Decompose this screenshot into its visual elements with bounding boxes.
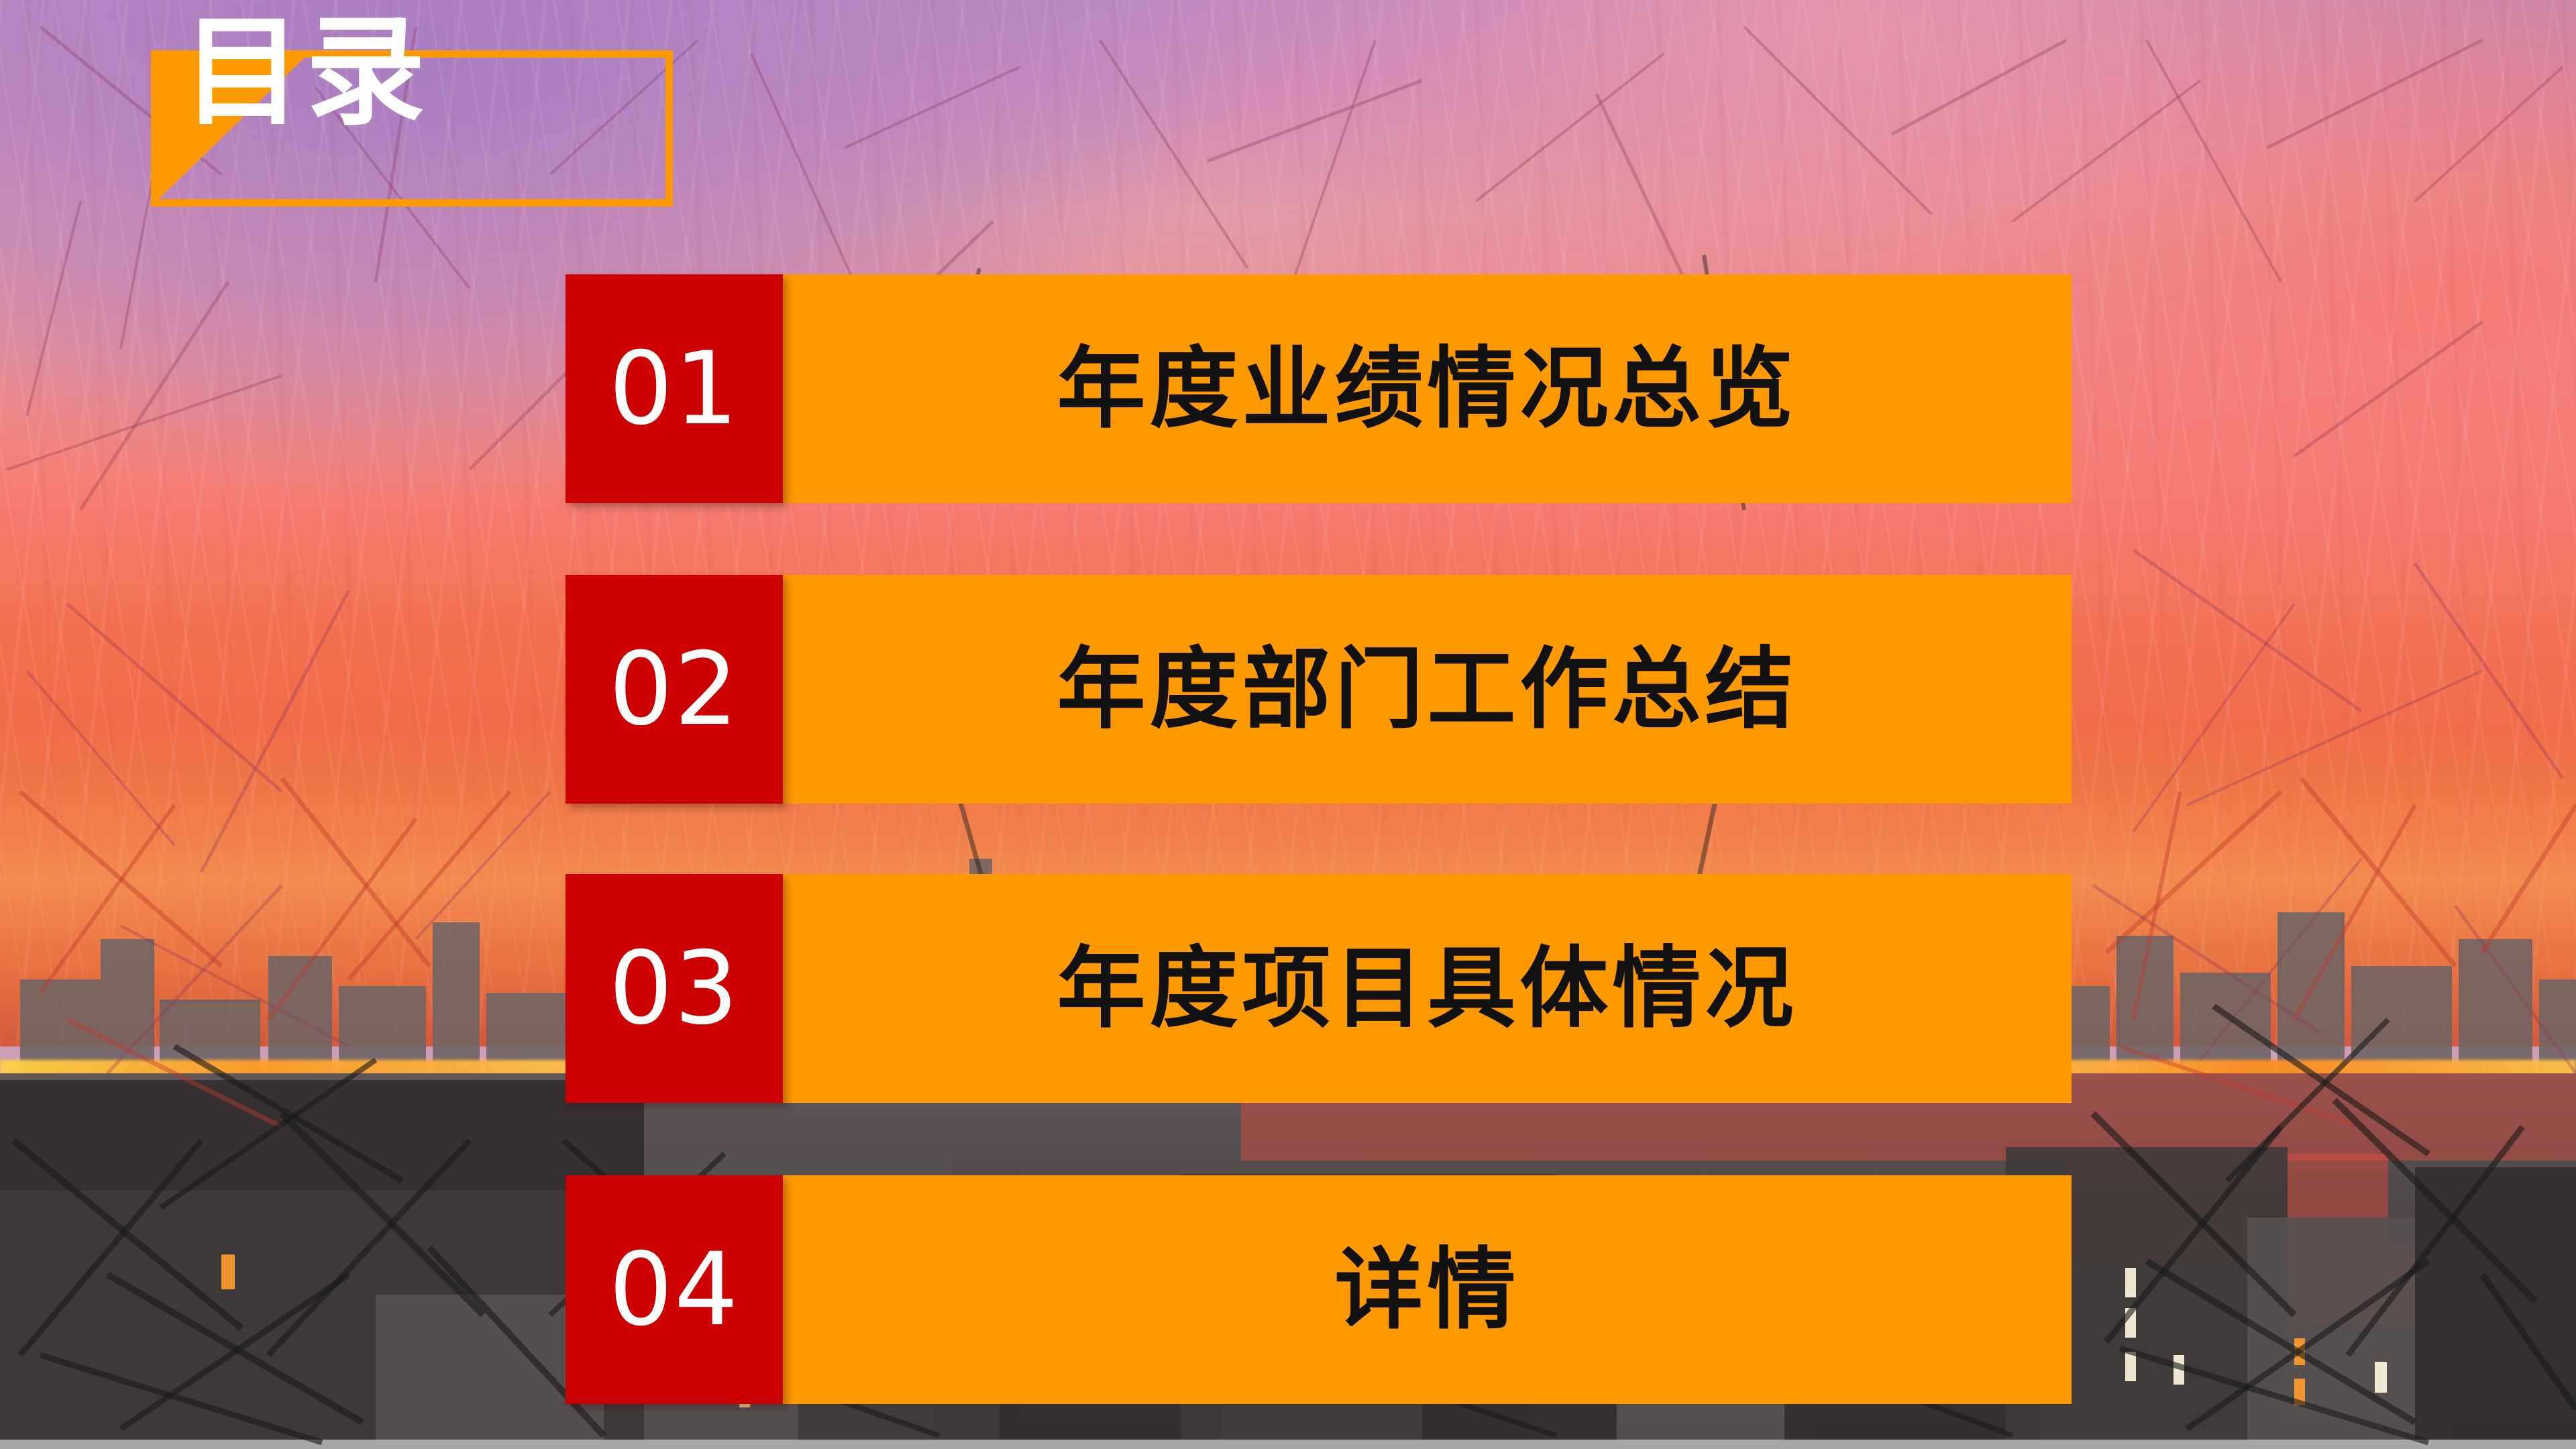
list-item[interactable]: 03 年度项目具体情况 xyxy=(566,874,2072,1103)
toc-label-box[interactable]: 年度项目具体情况 xyxy=(783,874,2072,1103)
list-item[interactable]: 02 年度部门工作总结 xyxy=(566,575,2072,804)
toc-label-box[interactable]: 详情 xyxy=(783,1175,2072,1404)
list-item[interactable]: 01 年度业绩情况总览 xyxy=(566,274,2072,503)
toc-number-box: 04 xyxy=(566,1175,783,1404)
toc-label: 年度业绩情况总览 xyxy=(1057,342,1798,436)
toc-number: 02 xyxy=(609,639,740,740)
toc-label: 详情 xyxy=(1335,1243,1520,1337)
toc-number: 04 xyxy=(609,1240,740,1340)
toc-label-box[interactable]: 年度业绩情况总览 xyxy=(783,274,2072,503)
toc-number-box: 02 xyxy=(566,575,783,804)
toc-number: 01 xyxy=(609,339,740,439)
toc-number-box: 03 xyxy=(566,874,783,1103)
toc-label-box[interactable]: 年度部门工作总结 xyxy=(783,575,2072,804)
toc-number-box: 01 xyxy=(566,274,783,503)
toc-label: 年度部门工作总结 xyxy=(1057,643,1798,737)
toc-label: 年度项目具体情况 xyxy=(1057,942,1798,1036)
list-item[interactable]: 04 详情 xyxy=(566,1175,2072,1404)
toc-number: 03 xyxy=(609,938,740,1039)
table-of-contents: 01 年度业绩情况总览 02 年度部门工作总结 03 年度项目具体情况 04 详… xyxy=(0,0,2576,1449)
